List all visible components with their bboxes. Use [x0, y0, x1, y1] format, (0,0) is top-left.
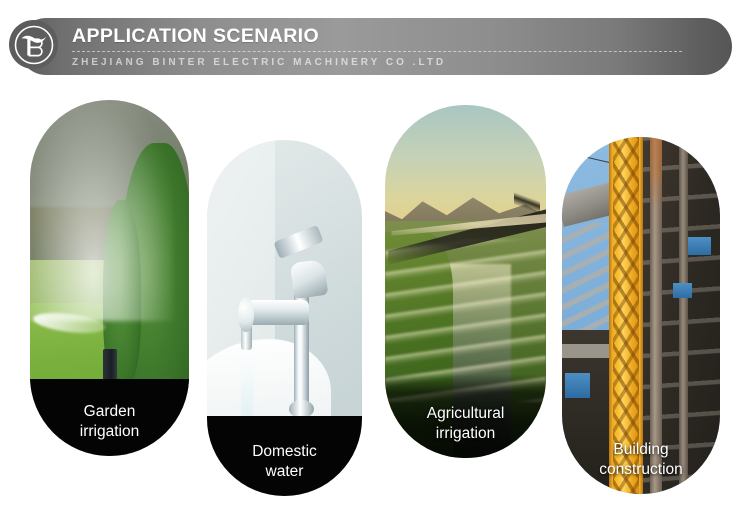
garden-irrigation-label: Garden irrigation — [30, 402, 189, 456]
card-label-line2: irrigation — [30, 422, 189, 442]
building-construction-label: Building construction — [562, 440, 720, 494]
scenario-card-building-construction[interactable]: Building construction — [562, 137, 720, 494]
header-dashed-divider — [72, 51, 682, 52]
card-label-line2: construction — [562, 460, 720, 480]
scenario-card-agricultural-irrigation[interactable]: Agricultural irrigation — [385, 105, 546, 458]
domestic-water-label: Domestic water — [207, 442, 362, 496]
card-label-line2: irrigation — [385, 424, 546, 444]
card-label-line2: water — [207, 462, 362, 482]
agricultural-irrigation-label: Agricultural irrigation — [385, 404, 546, 458]
page-header: APPLICATION SCENARIO ZHEJIANG BINTER ELE… — [0, 0, 750, 92]
header-text-block: APPLICATION SCENARIO ZHEJIANG BINTER ELE… — [72, 18, 712, 75]
card-label-line1: Building — [562, 440, 720, 460]
card-label-line1: Garden — [30, 402, 189, 422]
card-label-line1: Domestic — [207, 442, 362, 462]
binter-b-logo-icon — [14, 25, 54, 65]
company-logo — [9, 20, 58, 69]
company-name-subtitle: ZHEJIANG BINTER ELECTRIC MACHINERY CO .L… — [72, 56, 712, 69]
card-label-line1: Agricultural — [385, 404, 546, 424]
scenario-card-domestic-water[interactable]: Domestic water — [207, 140, 362, 496]
page-title: APPLICATION SCENARIO — [72, 23, 712, 49]
scenario-card-garden-irrigation[interactable]: Garden irrigation — [30, 100, 189, 456]
